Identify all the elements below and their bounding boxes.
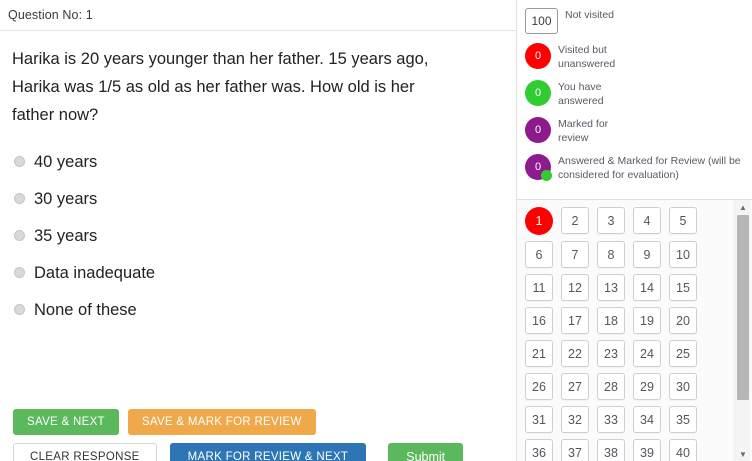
radio-icon[interactable]	[14, 304, 25, 315]
question-number-label: Question No: 1	[8, 8, 93, 22]
radio-icon[interactable]	[14, 267, 25, 278]
question-palette: 1234567891011121314151617181920212223242…	[517, 200, 733, 461]
palette-cell-31[interactable]: 31	[525, 406, 553, 433]
palette-cell-12[interactable]: 12	[561, 274, 589, 301]
palette-cell-10[interactable]: 10	[669, 241, 697, 268]
palette-cell-34[interactable]: 34	[633, 406, 661, 433]
answered-sub-dot-icon	[541, 170, 552, 181]
palette-cell-19[interactable]: 19	[633, 307, 661, 334]
palette-cell-2[interactable]: 2	[561, 207, 589, 234]
palette-cell-32[interactable]: 32	[561, 406, 589, 433]
answered-and-marked-badge: 0	[525, 154, 551, 180]
save-and-next-button[interactable]: SAVE & NEXT	[13, 409, 119, 435]
scroll-down-arrow-icon[interactable]: ▼	[735, 447, 751, 461]
radio-icon[interactable]	[14, 230, 25, 241]
legend-label: Visited but unanswered	[558, 43, 638, 71]
palette-cell-39[interactable]: 39	[633, 439, 661, 461]
question-text: Harika is 20 years younger than her fath…	[12, 45, 452, 129]
palette-cell-18[interactable]: 18	[597, 307, 625, 334]
clear-response-button[interactable]: CLEAR RESPONSE	[13, 443, 157, 461]
palette-cell-23[interactable]: 23	[597, 340, 625, 367]
action-buttons: SAVE & NEXT SAVE & MARK FOR REVIEW CLEAR…	[13, 409, 463, 461]
marked-for-review-badge: 0	[525, 117, 551, 143]
palette-cell-40[interactable]: 40	[669, 439, 697, 461]
palette-cell-33[interactable]: 33	[597, 406, 625, 433]
palette-cell-8[interactable]: 8	[597, 241, 625, 268]
visited-unanswered-badge: 0	[525, 43, 551, 69]
palette-cell-9[interactable]: 9	[633, 241, 661, 268]
palette-cell-38[interactable]: 38	[597, 439, 625, 461]
legend-item-marked-for-review: 0 Marked for review	[525, 117, 638, 145]
palette-cell-30[interactable]: 30	[669, 373, 697, 400]
palette-cell-29[interactable]: 29	[633, 373, 661, 400]
legend-item-answered-and-marked: 0 Answered & Marked for Review (will be …	[525, 154, 746, 182]
not-visited-badge: 100	[525, 8, 558, 34]
palette-cell-6[interactable]: 6	[525, 241, 553, 268]
navigation-panel: 100 Not visited 0 Visited but unanswered…	[516, 0, 752, 461]
option-label: None of these	[34, 300, 137, 320]
palette-cell-25[interactable]: 25	[669, 340, 697, 367]
legend-item-answered: 0 You have answered	[525, 80, 638, 108]
palette-cell-20[interactable]: 20	[669, 307, 697, 334]
option-row[interactable]: 40 years	[12, 143, 504, 180]
option-label: 30 years	[34, 189, 97, 209]
palette-cell-36[interactable]: 36	[525, 439, 553, 461]
option-row[interactable]: 35 years	[12, 217, 504, 254]
legend-item-visited-unanswered: 0 Visited but unanswered	[525, 43, 638, 71]
palette-cell-1[interactable]: 1	[525, 207, 553, 235]
question-header: Question No: 1	[0, 0, 516, 31]
palette-cell-26[interactable]: 26	[525, 373, 553, 400]
exam-interface: Question No: 1 Harika is 20 years younge…	[0, 0, 752, 461]
legend-label: You have answered	[558, 80, 638, 108]
legend-label: Not visited	[565, 8, 614, 23]
action-buttons-row-2: CLEAR RESPONSE MARK FOR REVIEW & NEXT Su…	[13, 443, 463, 461]
palette-cell-15[interactable]: 15	[669, 274, 697, 301]
legend-label: Answered & Marked for Review (will be co…	[558, 154, 746, 182]
palette-cell-13[interactable]: 13	[597, 274, 625, 301]
legend-label: Marked for review	[558, 117, 638, 145]
option-row[interactable]: 30 years	[12, 180, 504, 217]
palette-cell-21[interactable]: 21	[525, 340, 553, 367]
status-legend: 100 Not visited 0 Visited but unanswered…	[517, 0, 752, 200]
answered-badge: 0	[525, 80, 551, 106]
legend-grid: 100 Not visited 0 Visited but unanswered…	[525, 8, 746, 191]
option-label: Data inadequate	[34, 263, 155, 283]
mark-for-review-and-next-button[interactable]: MARK FOR REVIEW & NEXT	[170, 443, 367, 461]
option-row[interactable]: Data inadequate	[12, 254, 504, 291]
question-body: Harika is 20 years younger than her fath…	[0, 31, 516, 461]
scroll-up-arrow-icon[interactable]: ▲	[735, 200, 751, 214]
palette-cell-16[interactable]: 16	[525, 307, 553, 334]
palette-cell-11[interactable]: 11	[525, 274, 553, 301]
palette-cell-22[interactable]: 22	[561, 340, 589, 367]
palette-cell-37[interactable]: 37	[561, 439, 589, 461]
options-list: 40 years 30 years 35 years Data inadequa…	[12, 143, 504, 328]
palette-cell-35[interactable]: 35	[669, 406, 697, 433]
option-label: 35 years	[34, 226, 97, 246]
palette-scrollbar[interactable]: ▲ ▼	[734, 200, 750, 461]
palette-cell-27[interactable]: 27	[561, 373, 589, 400]
palette-cell-24[interactable]: 24	[633, 340, 661, 367]
question-palette-wrapper: 1234567891011121314151617181920212223242…	[517, 200, 752, 461]
radio-icon[interactable]	[14, 193, 25, 204]
scrollbar-thumb[interactable]	[737, 215, 749, 400]
palette-cell-5[interactable]: 5	[669, 207, 697, 234]
radio-icon[interactable]	[14, 156, 25, 167]
submit-button[interactable]: Submit	[388, 443, 463, 461]
palette-cell-28[interactable]: 28	[597, 373, 625, 400]
palette-cell-14[interactable]: 14	[633, 274, 661, 301]
palette-cell-4[interactable]: 4	[633, 207, 661, 234]
action-buttons-row-1: SAVE & NEXT SAVE & MARK FOR REVIEW	[13, 409, 463, 435]
palette-cell-7[interactable]: 7	[561, 241, 589, 268]
question-panel: Question No: 1 Harika is 20 years younge…	[0, 0, 516, 461]
palette-cell-3[interactable]: 3	[597, 207, 625, 234]
option-label: 40 years	[34, 152, 97, 172]
legend-item-not-visited: 100 Not visited	[525, 8, 638, 34]
save-and-mark-for-review-button[interactable]: SAVE & MARK FOR REVIEW	[128, 409, 316, 435]
palette-cell-17[interactable]: 17	[561, 307, 589, 334]
option-row[interactable]: None of these	[12, 291, 504, 328]
